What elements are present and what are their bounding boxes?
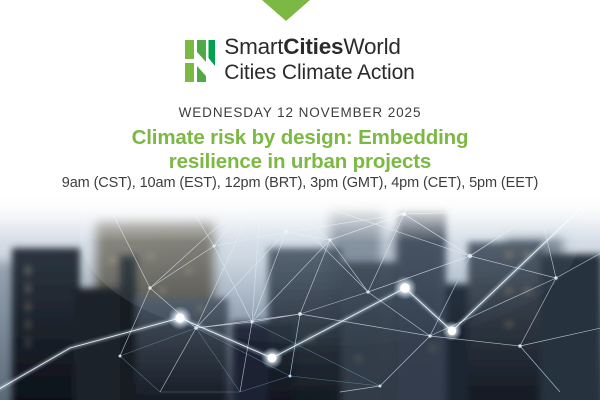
event-times: 9am (CST), 10am (EST), 12pm (BRT), 3pm (…	[0, 175, 600, 191]
smartcitiesworld-logo-mark	[185, 40, 215, 82]
event-date: WEDNESDAY 12 NOVEMBER 2025	[0, 105, 600, 120]
event-title: Climate risk by design: Embedding resili…	[0, 126, 600, 174]
brand-word-cities: Cities	[283, 34, 343, 59]
brand-logo-line2: Cities Climate Action	[224, 62, 414, 83]
brand-logo-line1: SmartCitiesWorld	[224, 36, 414, 59]
brand-word-world: World	[343, 34, 400, 59]
event-title-line2: resilience in urban projects	[0, 150, 600, 174]
header-section: SmartCitiesWorld Cities Climate Action W…	[0, 0, 600, 200]
webinar-promo-card: SmartCitiesWorld Cities Climate Action W…	[0, 0, 600, 400]
brand-word-smart: Smart	[224, 34, 283, 59]
event-title-line1: Climate risk by design: Embedding	[0, 126, 600, 150]
hero-image	[0, 196, 600, 400]
brand-logo-wordmark: SmartCitiesWorld Cities Climate Action	[224, 36, 414, 83]
hero-illustration	[0, 196, 600, 400]
brand-logo[interactable]: SmartCitiesWorld Cities Climate Action	[0, 36, 600, 83]
